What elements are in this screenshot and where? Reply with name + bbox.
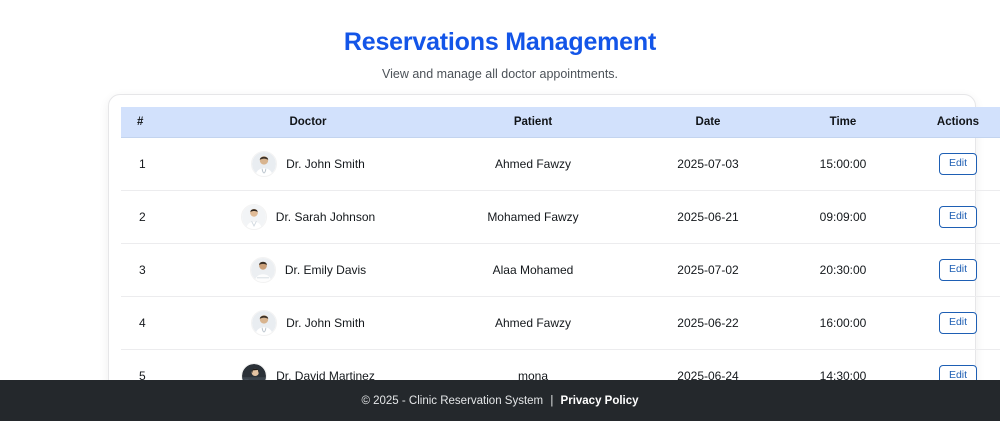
table-row: 1 Dr. John Smith Ahmed Fawzy 2025-07-03 … <box>121 138 1000 191</box>
column-header-actions[interactable]: Actions <box>903 107 1000 138</box>
patient-name: Ahmed Fawzy <box>433 138 633 191</box>
reservation-time: 09:09:00 <box>783 191 903 244</box>
actions-cell: Edit <box>903 138 1000 191</box>
doctor-name: Dr. John Smith <box>286 316 365 330</box>
actions-cell: Edit <box>903 191 1000 244</box>
doctor-cell: Dr. John Smith <box>183 138 433 191</box>
reservation-time: 16:00:00 <box>783 297 903 350</box>
doctor-name: Dr. John Smith <box>286 157 365 171</box>
row-number: 1 <box>121 138 183 191</box>
actions-cell: Edit <box>903 244 1000 297</box>
row-number: 3 <box>121 244 183 297</box>
table-row: 3 Dr. Emily Davis Alaa Mohamed 2025-07-0… <box>121 244 1000 297</box>
reservation-date: 2025-07-03 <box>633 138 783 191</box>
doctor-cell: Dr. John Smith <box>183 297 433 350</box>
reservation-date: 2025-06-21 <box>633 191 783 244</box>
doctor-name: Dr. Sarah Johnson <box>276 210 375 224</box>
footer-copyright: © 2025 - Clinic Reservation System <box>361 395 543 407</box>
reservations-table: # Doctor Patient Date Time Actions 1 <box>121 107 1000 403</box>
table-header-row: # Doctor Patient Date Time Actions <box>121 107 1000 138</box>
actions-cell: Edit <box>903 297 1000 350</box>
page-subtitle: View and manage all doctor appointments. <box>0 67 1000 81</box>
footer-separator: | <box>550 395 553 407</box>
patient-name: Mohamed Fawzy <box>433 191 633 244</box>
table-row: 2 Dr. Sarah Johnson Mohamed Fawzy 2025-0… <box>121 191 1000 244</box>
doctor-name: Dr. Emily Davis <box>285 263 366 277</box>
reservation-date: 2025-07-02 <box>633 244 783 297</box>
doctor-cell: Dr. Sarah Johnson <box>183 191 433 244</box>
column-header-doctor[interactable]: Doctor <box>183 107 433 138</box>
edit-button[interactable]: Edit <box>939 153 977 174</box>
reservations-card: # Doctor Patient Date Time Actions 1 <box>108 94 976 421</box>
edit-button[interactable]: Edit <box>939 259 977 280</box>
row-number: 2 <box>121 191 183 244</box>
app-root: Reservations Management View and manage … <box>0 0 1000 421</box>
page-footer: © 2025 - Clinic Reservation System | Pri… <box>0 380 1000 421</box>
column-header-number[interactable]: # <box>121 107 183 138</box>
doctor-avatar-icon <box>251 151 277 177</box>
reservation-date: 2025-06-22 <box>633 297 783 350</box>
patient-name: Alaa Mohamed <box>433 244 633 297</box>
privacy-policy-link[interactable]: Privacy Policy <box>561 395 639 407</box>
patient-name: Ahmed Fawzy <box>433 297 633 350</box>
edit-button[interactable]: Edit <box>939 312 977 333</box>
reservation-time: 20:30:00 <box>783 244 903 297</box>
doctor-avatar-icon <box>241 204 267 230</box>
table-header: # Doctor Patient Date Time Actions <box>121 107 1000 138</box>
reservation-time: 15:00:00 <box>783 138 903 191</box>
page-header: Reservations Management View and manage … <box>0 0 1000 81</box>
row-number: 4 <box>121 297 183 350</box>
table-body: 1 Dr. John Smith Ahmed Fawzy 2025-07-03 … <box>121 138 1000 403</box>
column-header-date[interactable]: Date <box>633 107 783 138</box>
doctor-cell: Dr. Emily Davis <box>183 244 433 297</box>
column-header-patient[interactable]: Patient <box>433 107 633 138</box>
doctor-avatar-icon <box>251 310 277 336</box>
footer-content: © 2025 - Clinic Reservation System | Pri… <box>361 395 638 407</box>
page-title: Reservations Management <box>0 28 1000 57</box>
edit-button[interactable]: Edit <box>939 206 977 227</box>
column-header-time[interactable]: Time <box>783 107 903 138</box>
doctor-avatar-icon <box>250 257 276 283</box>
table-row: 4 Dr. John Smith Ahmed Fawzy 2025-06-22 … <box>121 297 1000 350</box>
